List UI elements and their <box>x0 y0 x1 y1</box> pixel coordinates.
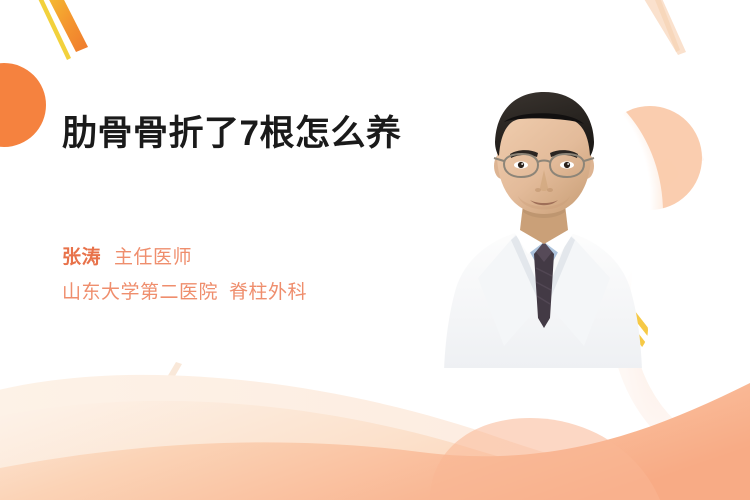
doctor-hospital: 山东大学第二医院 <box>62 282 218 303</box>
doctor-department: 脊柱外科 <box>229 282 307 303</box>
peach-wave <box>0 401 750 500</box>
doctor-credentials: 张涛主任医师 山东大学第二医院脊柱外科 <box>62 248 462 302</box>
pale-diagonal-stripes <box>641 0 686 55</box>
doctor-professional-title: 主任医师 <box>114 247 192 268</box>
yellow-diagonal-stripe <box>32 0 71 60</box>
page-title: 肋骨骨折了7根怎么养 <box>62 112 434 155</box>
cream-wave <box>0 375 750 500</box>
title-block: 肋骨骨折了7根怎么养 <box>62 112 434 155</box>
orange-diagonal-stripe <box>43 0 88 52</box>
salmon-wave <box>0 378 750 500</box>
doctor-name-line: 张涛主任医师 <box>62 248 462 267</box>
salmon-wave-highlight <box>430 418 660 500</box>
doctor-portrait <box>418 78 668 368</box>
faint-diagonal-stripe <box>154 362 182 402</box>
video-cover-card: 肋骨骨折了7根怎么养 张涛主任医师 山东大学第二医院脊柱外科 <box>0 0 750 500</box>
orange-circle <box>0 63 46 147</box>
doctor-name: 张涛 <box>62 247 101 268</box>
doctor-affiliation-line: 山东大学第二医院脊柱外科 <box>62 283 462 302</box>
